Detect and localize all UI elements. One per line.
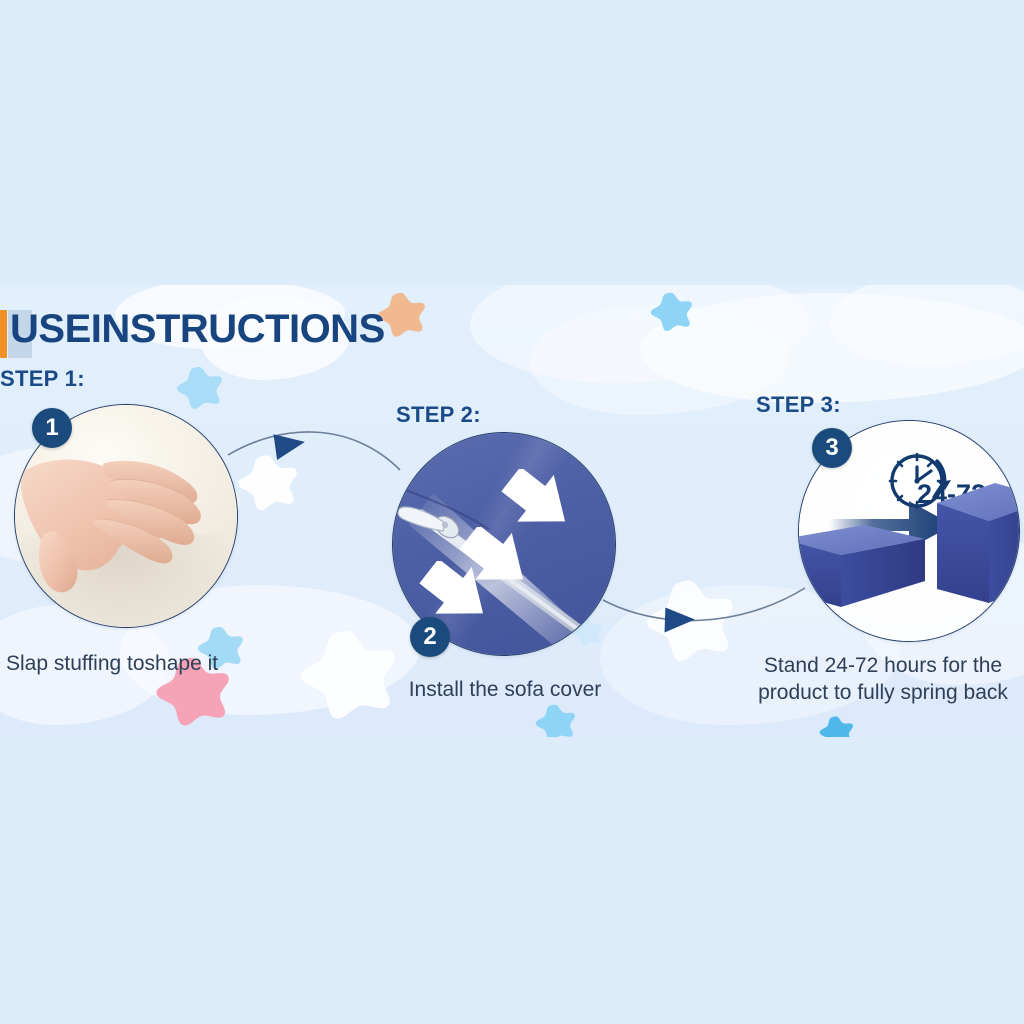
star-blue-bottom <box>534 703 576 737</box>
poster-canvas: USEINSTRUCTIONS STEP 1: <box>0 0 1024 1024</box>
page-title: USEINSTRUCTIONS <box>10 303 385 355</box>
star-blue-mid <box>650 291 692 333</box>
foam-block-expanded <box>937 483 1019 603</box>
step-1-caption: Slap stuffing toshape it <box>0 650 256 677</box>
step-2-badge: 2 <box>410 617 450 657</box>
step-2-caption: Install the sofa cover <box>382 676 628 703</box>
step-2-label: STEP 2: <box>396 402 481 428</box>
star-white-small <box>236 453 298 513</box>
step-1-label: STEP 1: <box>0 366 85 392</box>
star-blue-bottom <box>818 715 854 737</box>
cloud-shape <box>830 285 1024 365</box>
step-3-caption: Stand 24-72 hours for the product to ful… <box>738 652 1024 706</box>
step-1-badge: 1 <box>32 408 72 448</box>
hand-illustration <box>14 431 238 628</box>
foam-block-flat <box>799 525 925 607</box>
step-3-label: STEP 3: <box>756 392 841 418</box>
star-white-small <box>644 577 734 665</box>
star-white-mid <box>298 627 396 723</box>
accent-bar-orange <box>0 310 7 358</box>
step-3-badge: 3 <box>812 428 852 468</box>
